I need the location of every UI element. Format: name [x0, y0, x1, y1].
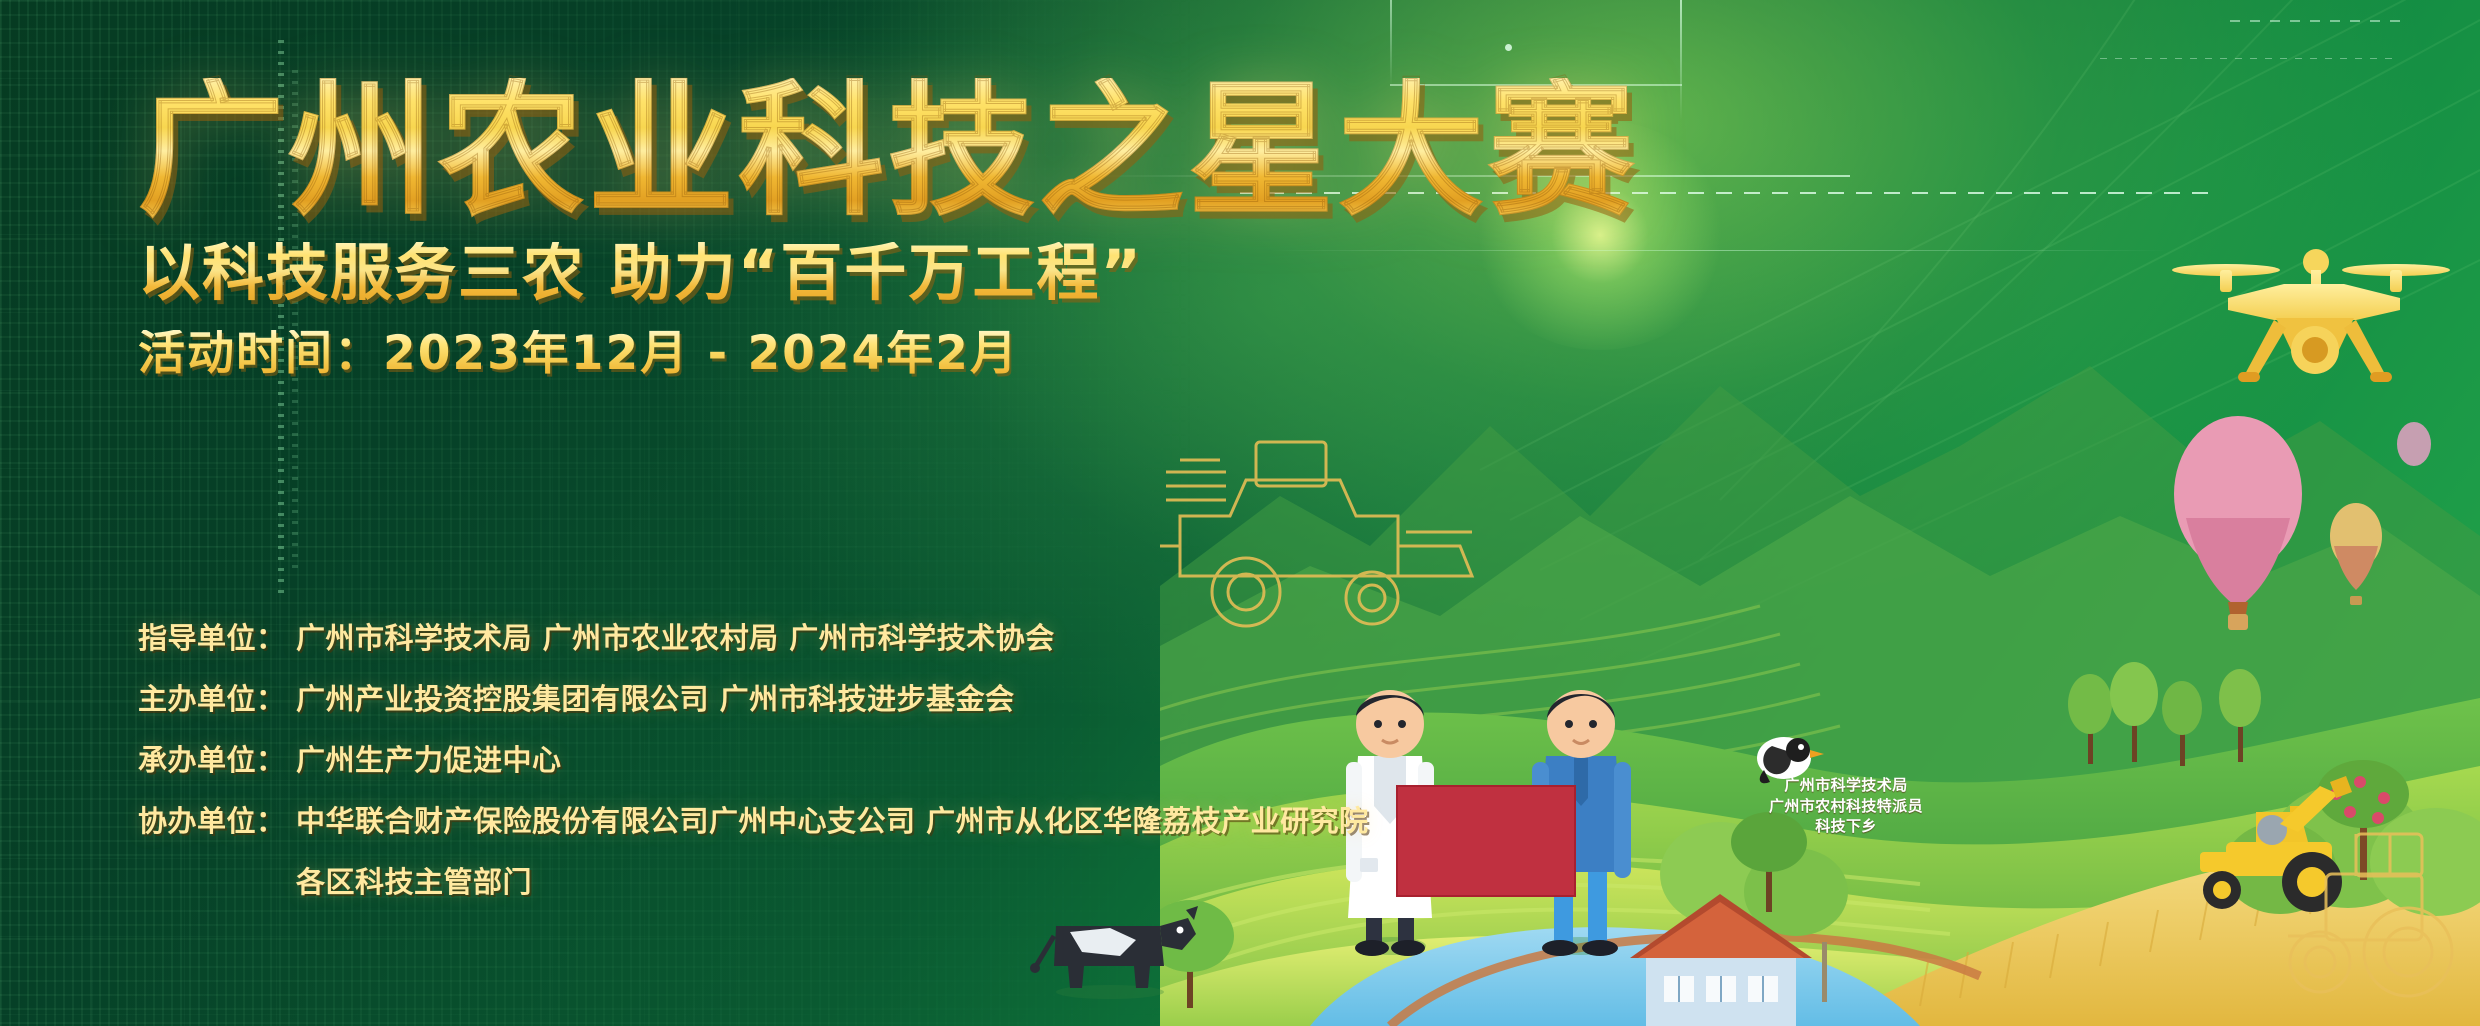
hud-line-4	[1680, 0, 1682, 120]
organizer-label: 主办单位：	[138, 676, 296, 718]
organizer-value: 广州生产力促进中心	[296, 737, 562, 779]
hud-dot-decor	[1505, 44, 1512, 51]
organizer-row-guidance: 指导单位： 广州市科学技术局 广州市农业农村局 广州市科学技术协会	[138, 615, 1588, 657]
organizer-label: 协办单位：	[138, 798, 296, 840]
hud-line-7	[2230, 20, 2410, 22]
organizer-value: 广州市科学技术局 广州市农业农村局 广州市科学技术协会	[296, 615, 1055, 657]
organizer-value: 各区科技主管部门	[296, 859, 532, 901]
page-title: 广州农业科技之星大赛	[138, 78, 1638, 224]
headline-block: 广州农业科技之星大赛 以科技服务三农 助力“百千万工程” 活动时间：2023年1…	[138, 78, 1638, 377]
agri-tech-competition-banner: 0.1	[0, 0, 2480, 1026]
organizer-row-coorganizer: 协办单位： 中华联合财产保险股份有限公司广州中心支公司 广州市从化区华隆荔枝产业…	[138, 798, 1588, 840]
organizer-row-continuation: 各区科技主管部门	[138, 859, 1588, 901]
organizer-label: 指导单位：	[138, 615, 296, 657]
organizer-row-organizer: 承办单位： 广州生产力促进中心	[138, 737, 1588, 779]
organizer-value: 广州产业投资控股集团有限公司 广州市科技进步基金会	[296, 676, 1015, 718]
organizer-value: 中华联合财产保险股份有限公司广州中心支公司 广州市从化区华隆荔枝产业研究院	[296, 798, 1369, 840]
organizer-list: 指导单位： 广州市科学技术局 广州市农业农村局 广州市科学技术协会 主办单位： …	[138, 615, 1588, 920]
event-date: 活动时间：2023年12月 - 2024年2月	[138, 330, 1638, 377]
drone-icon	[2168, 200, 2468, 410]
organizer-label: 承办单位：	[138, 737, 296, 779]
page-subtitle: 以科技服务三农 助力“百千万工程”	[138, 242, 1638, 304]
organizer-row-host: 主办单位： 广州产业投资控股集团有限公司 广州市科技进步基金会	[138, 676, 1588, 718]
hot-air-balloon-icon-3	[2397, 422, 2431, 466]
hud-line-8	[2100, 58, 2400, 59]
